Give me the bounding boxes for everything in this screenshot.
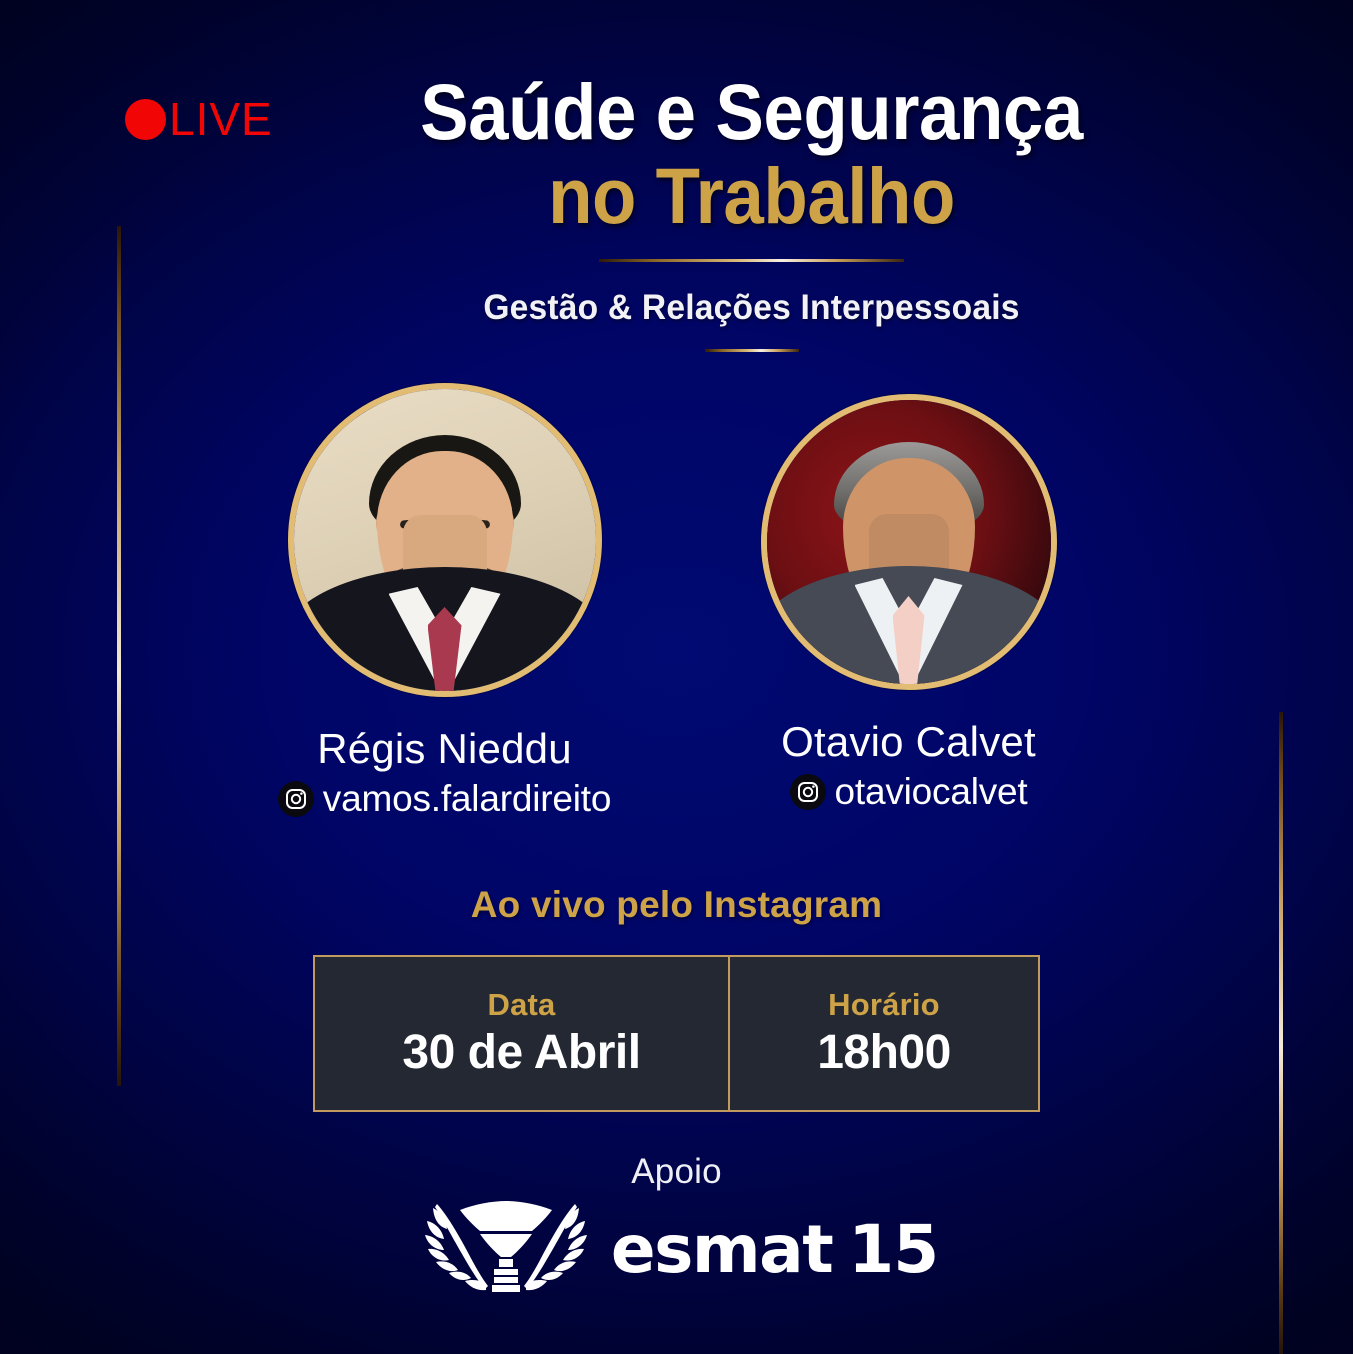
event-time-cell: Horário 18h00 (730, 957, 1038, 1110)
avatar (288, 383, 602, 697)
avatar (761, 394, 1057, 690)
page-subtitle: Gestão & Relações Interpessoais (174, 288, 1329, 328)
speaker-name: Régis Nieddu (282, 725, 607, 773)
speaker-handle[interactable]: vamos.falardireito (323, 778, 611, 820)
speakers-section: Régis Nieddu vamos.falardireito (0, 383, 1353, 820)
speaker-social-row[interactable]: vamos.falardireito (282, 778, 607, 820)
esmat-anniversary-number: 15 (848, 1211, 938, 1288)
speaker-photo-regis-nieddu (294, 389, 596, 691)
esmat-logo: esmat15 (0, 1194, 1353, 1305)
event-poster: LIVE Saúde e Segurança no Trabalho Gestã… (0, 0, 1353, 1354)
speaker-card: Otavio Calvet otaviocalvet (746, 383, 1071, 820)
speaker-handle[interactable]: otaviocalvet (835, 771, 1028, 813)
time-value: 18h00 (817, 1025, 951, 1080)
esmat-wordmark: esmat15 (611, 1217, 938, 1283)
esmat-laurel-chalice-icon (415, 1194, 597, 1305)
divider-rule-top (599, 259, 904, 262)
esmat-wordmark-text: esmat (611, 1211, 832, 1288)
date-value: 30 de Abril (402, 1025, 640, 1080)
event-details-box: Data 30 de Abril Horário 18h00 (313, 955, 1040, 1112)
speaker-photo-otavio-calvet (767, 400, 1051, 684)
instagram-icon[interactable] (278, 781, 314, 817)
divider-rule-bottom (705, 349, 799, 352)
speaker-card: Régis Nieddu vamos.falardireito (282, 383, 607, 820)
live-platform-note: Ao vivo pelo Instagram (0, 884, 1353, 926)
support-label: Apoio (0, 1152, 1353, 1192)
title-block: Saúde e Segurança no Trabalho Gestão & R… (0, 74, 1353, 352)
event-date-cell: Data 30 de Abril (315, 957, 730, 1110)
page-title-line1: Saúde e Segurança (198, 74, 1305, 151)
time-label: Horário (828, 987, 940, 1023)
page-title-line2: no Trabalho (198, 156, 1305, 237)
instagram-icon[interactable] (790, 774, 826, 810)
speaker-social-row[interactable]: otaviocalvet (746, 771, 1071, 813)
speaker-name: Otavio Calvet (746, 718, 1071, 766)
date-label: Data (488, 987, 556, 1023)
poster-footer: Apoio (0, 1152, 1353, 1305)
